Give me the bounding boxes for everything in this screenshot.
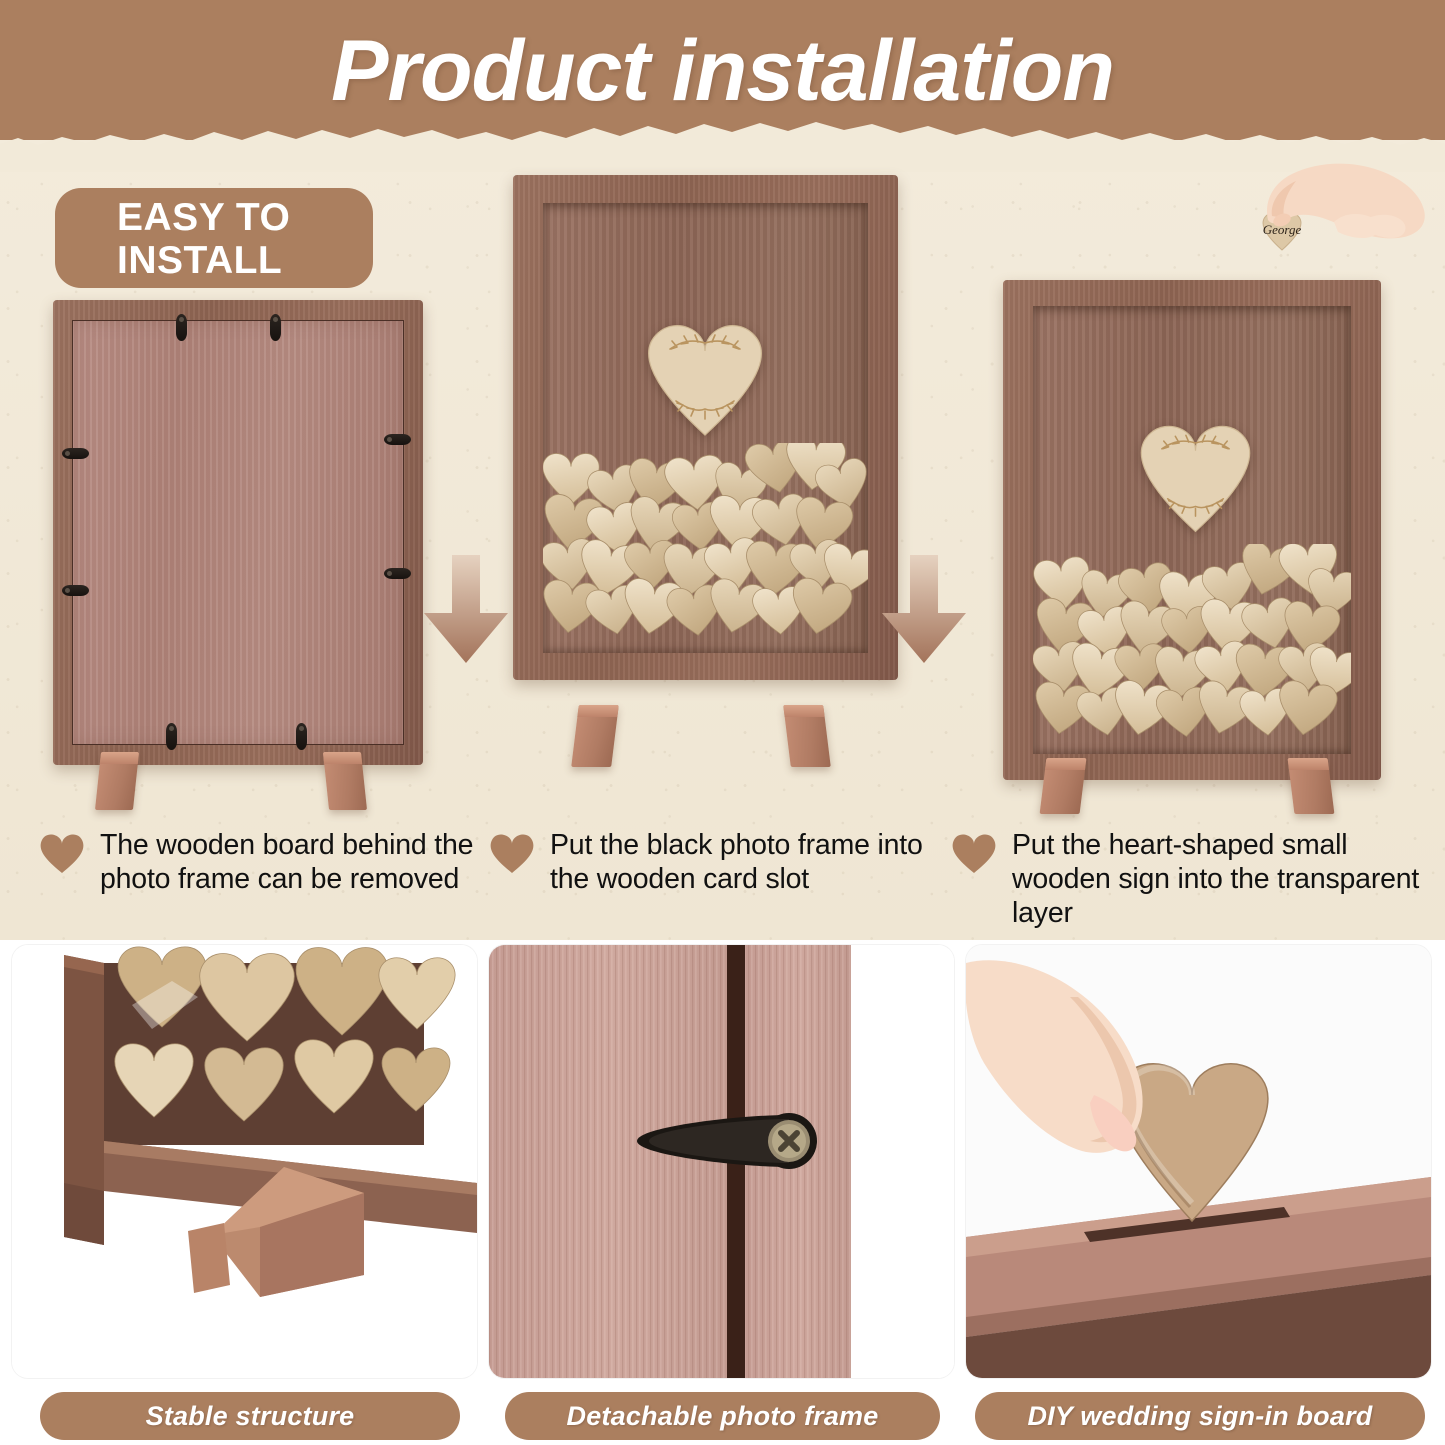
step-3-image	[995, 280, 1395, 810]
arrow-down-2	[878, 555, 970, 665]
badge-line-2: INSTALL	[117, 239, 373, 282]
bottom-label-diy-board: DIY wedding sign-in board	[975, 1392, 1425, 1440]
turn-clip	[384, 434, 411, 445]
turn-clip	[296, 723, 307, 750]
bottom-photo-strip	[0, 940, 1445, 1445]
photo-diy-signin-board	[966, 945, 1431, 1378]
engraved-heart-plaque	[1123, 418, 1268, 543]
engraved-heart-plaque	[630, 317, 780, 447]
bottom-label-detachable-frame: Detachable photo frame	[505, 1392, 940, 1440]
turn-clip	[270, 314, 281, 341]
wooden-hearts-pile	[1033, 544, 1351, 754]
step-1-image	[48, 300, 438, 810]
step-2-image	[505, 175, 910, 810]
stand-leg-right	[783, 705, 831, 767]
turn-clip	[62, 448, 89, 459]
step-3-caption: Put the heart-shaped small wooden sign i…	[952, 828, 1422, 930]
step-3-caption-text: Put the heart-shaped small wooden sign i…	[1012, 828, 1422, 930]
heart-icon	[952, 834, 996, 874]
stand-leg-left	[1040, 758, 1087, 814]
stand-leg-left	[571, 705, 619, 767]
bottom-label-text: Stable structure	[146, 1401, 355, 1432]
page-title: Product installation	[0, 22, 1445, 121]
bottom-label-text: Detachable photo frame	[567, 1401, 879, 1432]
stand-leg-right	[323, 752, 367, 810]
bottom-label-stable-structure: Stable structure	[40, 1392, 460, 1440]
step-2-caption-text: Put the black photo frame into the woode…	[550, 828, 930, 896]
turn-clip	[176, 314, 187, 341]
heart-icon	[40, 834, 84, 874]
stand-leg-left	[95, 752, 139, 810]
badge-line-1: EASY TO	[117, 196, 373, 239]
bottom-label-text: DIY wedding sign-in board	[1027, 1401, 1372, 1432]
step-1-caption-text: The wooden board behind the photo frame …	[100, 828, 480, 896]
stand-leg-right	[1288, 758, 1335, 814]
hand-holding-heart-tag: George	[1238, 150, 1445, 295]
wooden-hearts-pile	[543, 443, 868, 653]
arrow-down-1	[420, 555, 512, 665]
heart-icon	[490, 834, 534, 874]
torn-paper-edge	[0, 118, 1445, 172]
turn-clip	[62, 585, 89, 596]
easy-to-install-badge: EASY TO INSTALL	[55, 188, 373, 288]
step-2-caption: Put the black photo frame into the woode…	[490, 828, 930, 896]
photo-detachable-frame	[489, 945, 954, 1378]
step-1-caption: The wooden board behind the photo frame …	[40, 828, 480, 896]
back-board-outline	[72, 320, 404, 745]
turn-clip	[384, 568, 411, 579]
photo-stable-structure	[12, 945, 477, 1378]
turn-clip	[166, 723, 177, 750]
